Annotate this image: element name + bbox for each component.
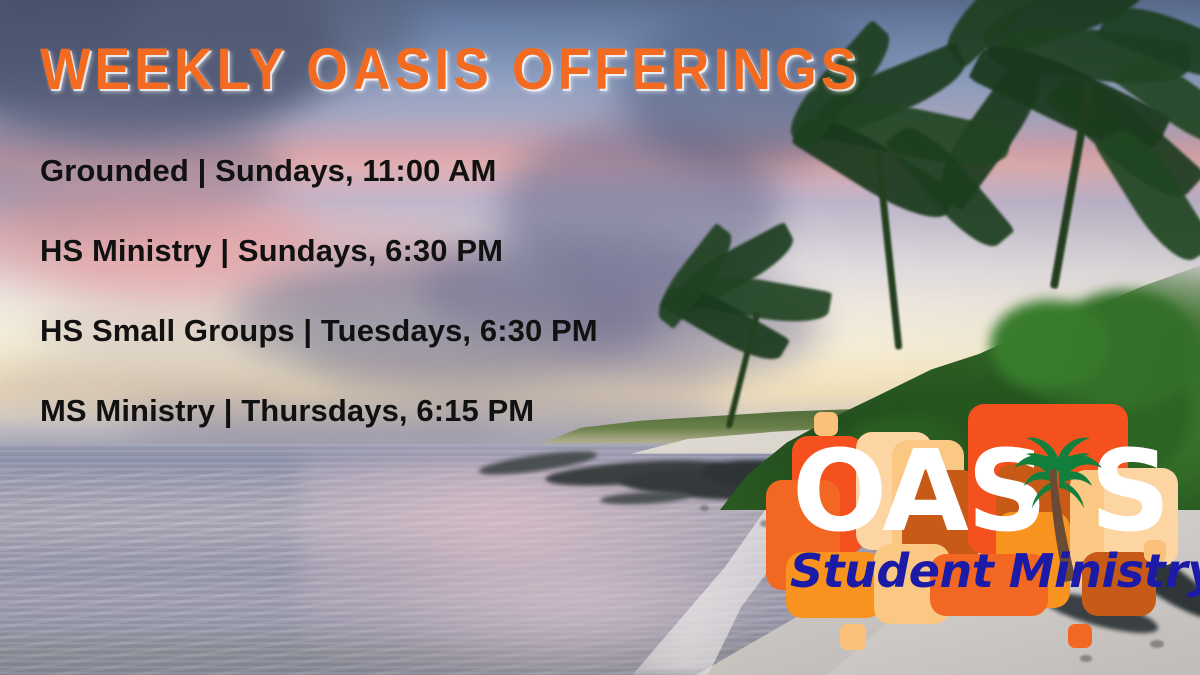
logo-wordmark: OAS S	[784, 428, 1184, 558]
offering-item-grounded: Grounded | Sundays, 11:00 AM	[40, 155, 760, 186]
offerings-list: Grounded | Sundays, 11:00 AM HS Ministry…	[40, 155, 760, 475]
oasis-student-ministry-logo: OAS S Student Ministry	[752, 392, 1200, 675]
page-title: WEEKLY OASIS OFFERINGS	[40, 36, 860, 103]
logo-accent-square	[840, 624, 866, 650]
pebble	[700, 505, 709, 511]
logo-tagline: Student Ministry	[790, 544, 1200, 598]
announcement-slide: WEEKLY OASIS OFFERINGS Grounded | Sunday…	[0, 0, 1200, 675]
logo-accent-square	[1068, 624, 1092, 648]
offering-item-hs-ministry: HS Ministry | Sundays, 6:30 PM	[40, 235, 760, 266]
offering-item-ms-ministry: MS Ministry | Thursdays, 6:15 PM	[40, 395, 760, 426]
offering-item-hs-small-groups: HS Small Groups | Tuesdays, 6:30 PM	[40, 315, 760, 346]
